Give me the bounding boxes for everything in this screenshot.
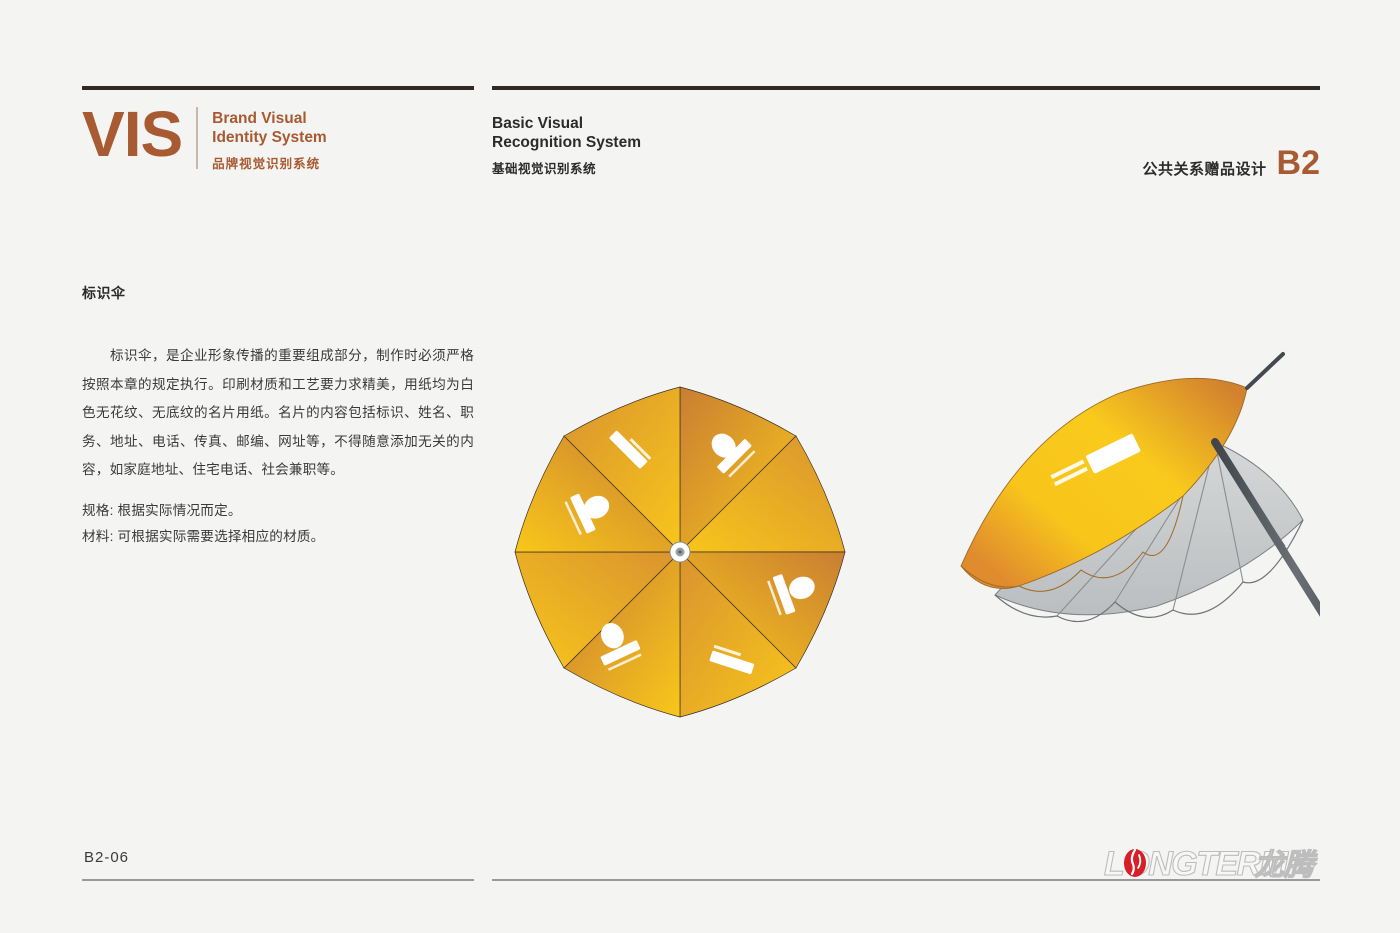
brand-logo-cn-text: 龙腾 (1254, 849, 1318, 882)
system-title-en-line1: Basic Visual (492, 114, 641, 133)
brand-logo-cn: 龙腾 (1254, 849, 1318, 882)
vis-subtitle-group: Brand Visual Identity System 品牌视觉识别系统 (212, 103, 327, 172)
header-rule-left (82, 86, 474, 90)
vis-manual-page: VIS Brand Visual Identity System 品牌视觉识别系… (0, 0, 1400, 933)
page-title: 标识伞 (82, 283, 126, 303)
vis-subtitle-cn: 品牌视觉识别系统 (212, 153, 327, 172)
umbrella-tip (1247, 354, 1283, 388)
umbrella-top-view (515, 387, 845, 717)
spec-size-line: 规格: 根据实际情况而定。 (82, 498, 474, 524)
vis-subtitle-en-line1: Brand Visual (212, 109, 327, 128)
section-label: 公共关系赠品设计 (1143, 158, 1267, 179)
footer-rule-left (82, 879, 474, 881)
header-rule-right (492, 86, 1320, 90)
section-code-block: 公共关系赠品设计 B2 (1143, 148, 1320, 179)
spec-material-line: 材料: 可根据实际需要选择相应的材质。 (82, 524, 474, 550)
umbrella-illustration (492, 330, 1320, 770)
dragon-flame-icon (1124, 849, 1146, 877)
description-paragraph: 标识伞，是企业形象传播的重要组成部分，制作时必须严格按照本章的规定执行。印刷材质… (82, 342, 474, 485)
brand-logo-svg: LONGTERM 龙腾 (1104, 843, 1320, 885)
system-title-cn: 基础视觉识别系统 (492, 158, 641, 177)
umbrella-side-view (961, 354, 1320, 731)
vis-subtitle-en-line2: Identity System (212, 128, 327, 147)
artwork-area (492, 330, 1320, 770)
longterm-brand-logo: LONGTERM 龙腾 (1104, 843, 1320, 885)
vis-wordmark: VIS (82, 103, 182, 165)
vis-logo-block: VIS Brand Visual Identity System 品牌视觉识别系… (82, 103, 327, 172)
system-title-en-line2: Recognition System (492, 133, 641, 152)
footer-page-code: B2-06 (84, 849, 129, 866)
vis-divider (196, 107, 198, 169)
section-code: B2 (1277, 148, 1320, 178)
system-title-block: Basic Visual Recognition System 基础视觉识别系统 (492, 114, 641, 177)
spec-group: 规格: 根据实际情况而定。 材料: 可根据实际需要选择相应的材质。 (82, 498, 474, 550)
